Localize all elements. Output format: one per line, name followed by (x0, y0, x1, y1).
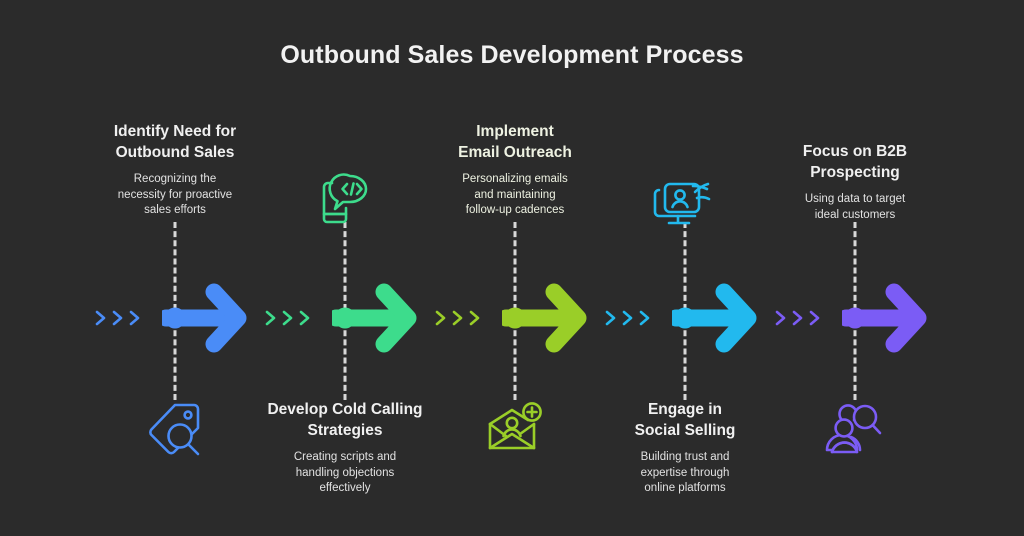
process-step-2[interactable]: Develop Cold Calling Strategies Creating… (260, 0, 430, 536)
step-heading: Implement Email Outreach (416, 122, 614, 163)
step-label: Develop Cold Calling Strategies Creating… (244, 400, 446, 496)
step-heading: Focus on B2B Prospecting (758, 142, 952, 183)
process-step-3[interactable]: Implement Email Outreach Personalizing e… (430, 0, 600, 536)
timeline-rail (770, 282, 940, 354)
step-description: Building trust and expertise through onl… (592, 450, 778, 496)
chevron-markers (434, 309, 482, 327)
monitor-person-hand-icon (651, 170, 719, 232)
process-arrow (842, 282, 928, 354)
chevron-markers (774, 309, 822, 327)
chevron-markers (94, 309, 142, 327)
step-heading: Engage in Social Selling (592, 400, 778, 441)
step-heading: Develop Cold Calling Strategies (244, 400, 446, 441)
timeline-rail (260, 282, 430, 354)
timeline-rail (600, 282, 770, 354)
step-description: Creating scripts and handling objections… (244, 450, 446, 496)
step-label: Engage in Social Selling Building trust … (592, 400, 778, 496)
step-heading: Identify Need for Outbound Sales (78, 122, 272, 163)
process-step-1[interactable]: Identify Need for Outbound Sales Recogni… (90, 0, 260, 536)
process-arrow (502, 282, 588, 354)
step-description: Using data to target ideal customers (758, 192, 952, 223)
step-label: Focus on B2B Prospecting Using data to t… (758, 142, 952, 223)
tag-search-icon (144, 398, 206, 460)
timeline-rail (90, 282, 260, 354)
chevron-markers (604, 309, 652, 327)
process-timeline: Identify Need for Outbound Sales Recogni… (0, 0, 1024, 536)
timeline-rail (430, 282, 600, 354)
code-chat-icon (314, 170, 376, 232)
process-step-5[interactable]: Focus on B2B Prospecting Using data to t… (770, 0, 940, 536)
step-description: Recognizing the necessity for proactive … (78, 172, 272, 218)
step-label: Implement Email Outreach Personalizing e… (416, 122, 614, 218)
process-arrow (332, 282, 418, 354)
process-arrow (162, 282, 248, 354)
step-label: Identify Need for Outbound Sales Recogni… (78, 122, 272, 218)
envelope-add-person-icon (484, 398, 546, 460)
process-arrow (672, 282, 758, 354)
step-description: Personalizing emails and maintaining fol… (416, 172, 614, 218)
chevron-markers (264, 309, 312, 327)
people-search-icon (824, 398, 886, 460)
process-step-4[interactable]: Engage in Social Selling Building trust … (600, 0, 770, 536)
